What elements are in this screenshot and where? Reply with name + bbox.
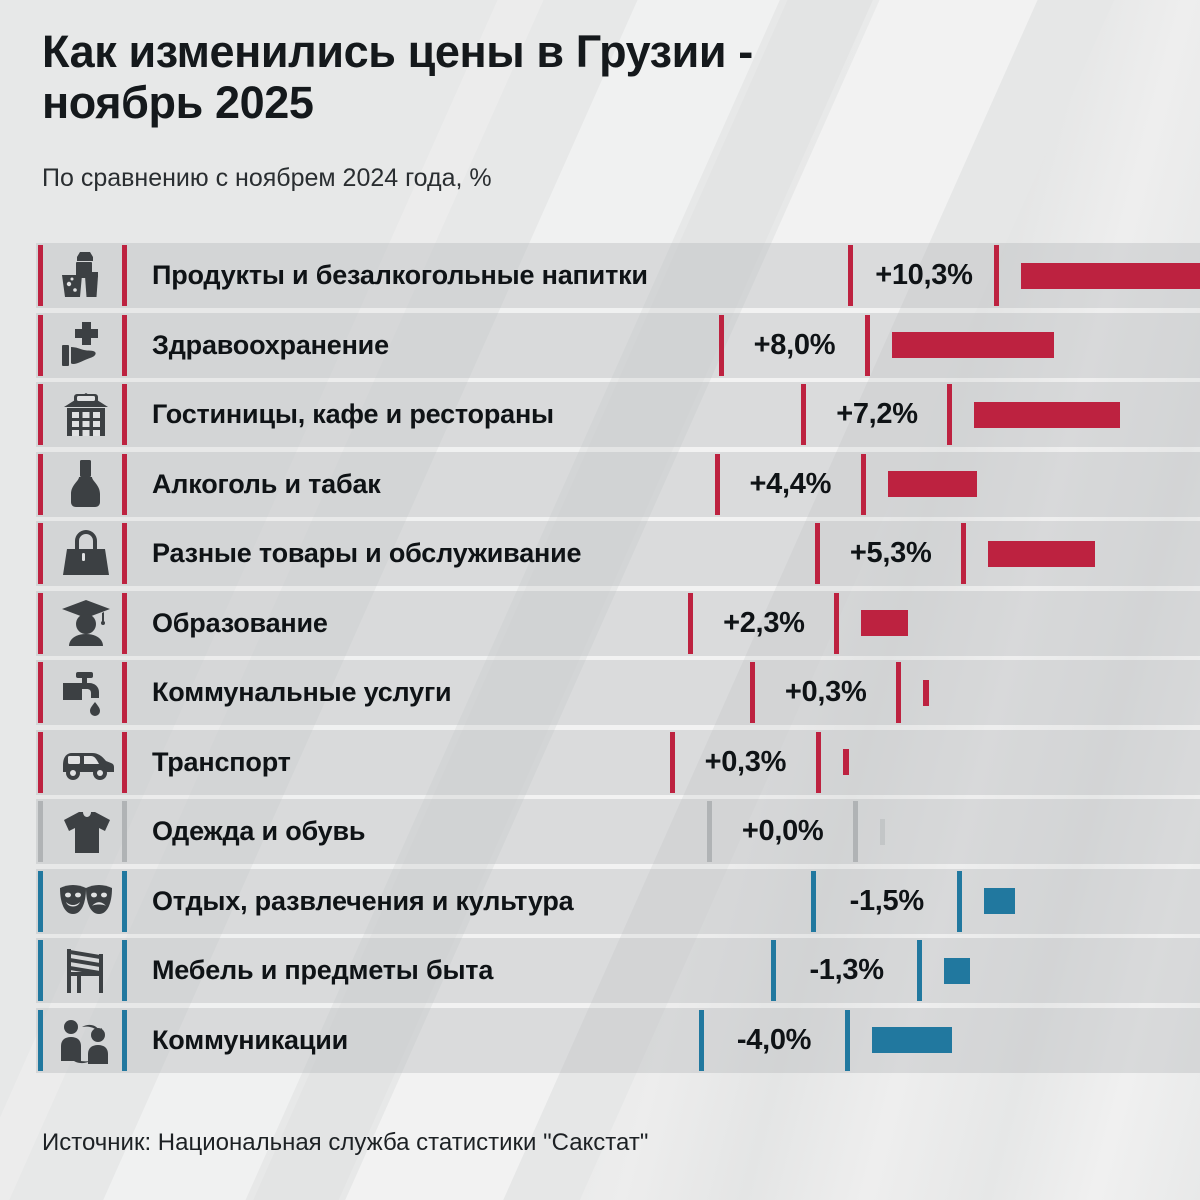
value-label: +4,4% — [720, 468, 861, 501]
value-bar — [892, 332, 1054, 358]
chart-rows: Продукты и безалкогольные напитки+10,3%З… — [0, 243, 1200, 1077]
row-left-accent-bar — [38, 871, 43, 932]
value-label: +0,3% — [755, 676, 896, 709]
value-label: -1,3% — [776, 954, 917, 987]
row-left-accent-bar — [38, 662, 43, 723]
category-label: Продукты и безалкогольные напитки — [127, 260, 848, 291]
value-label: +0,3% — [675, 746, 816, 779]
value-bar — [974, 402, 1119, 428]
healthcare-icon — [50, 320, 122, 370]
row-left-accent-bar — [38, 245, 43, 306]
row-left-accent-bar — [38, 732, 43, 793]
row-left-accent-bar — [38, 1010, 43, 1071]
bar-track — [850, 1008, 1200, 1073]
furniture-icon — [50, 946, 122, 996]
table-row[interactable]: Продукты и безалкогольные напитки+10,3% — [0, 243, 1200, 308]
header: Как изменились цены в Грузии - ноябрь 20… — [42, 26, 982, 193]
bar-track — [901, 660, 1200, 725]
misc-goods-icon — [50, 529, 122, 579]
value-label: +5,3% — [820, 537, 961, 570]
utilities-icon — [50, 668, 122, 718]
recreation-icon — [50, 879, 122, 923]
groceries-icon — [50, 251, 122, 301]
row-left-accent-bar — [38, 315, 43, 376]
row-left-accent-bar — [38, 801, 43, 862]
bar-track — [922, 938, 1200, 1003]
row-left-accent-bar — [38, 454, 43, 515]
category-label: Коммунальные услуги — [127, 677, 750, 708]
bar-track — [962, 869, 1200, 934]
table-row[interactable]: Разные товары и обслуживание+5,3% — [0, 521, 1200, 586]
row-left-accent-bar — [38, 523, 43, 584]
table-row[interactable]: Алкоголь и табак+4,4% — [0, 452, 1200, 517]
category-label: Образование — [127, 608, 688, 639]
value-bar — [988, 541, 1095, 567]
value-bar — [843, 749, 849, 775]
value-bar — [984, 888, 1014, 914]
value-label: -1,5% — [816, 885, 957, 918]
value-label: +8,0% — [724, 329, 865, 362]
category-label: Здравоохранение — [127, 330, 719, 361]
bar-track — [999, 243, 1200, 308]
transport-icon — [50, 741, 122, 783]
table-row[interactable]: Коммунальные услуги+0,3% — [0, 660, 1200, 725]
table-row[interactable]: Мебель и предметы быта-1,3% — [0, 938, 1200, 1003]
table-row[interactable]: Коммуникации-4,0% — [0, 1008, 1200, 1073]
source-note: Источник: Национальная служба статистики… — [42, 1129, 648, 1157]
table-row[interactable]: Одежда и обувь+0,0% — [0, 799, 1200, 864]
category-label: Отдых, развлечения и культура — [127, 886, 811, 917]
hotel-icon — [50, 390, 122, 440]
bar-track — [866, 452, 1200, 517]
value-bar — [923, 680, 929, 706]
category-label: Гостиницы, кафе и рестораны — [127, 399, 801, 430]
bar-track — [952, 382, 1200, 447]
table-row[interactable]: Гостиницы, кафе и рестораны+7,2% — [0, 382, 1200, 447]
value-bar — [861, 610, 907, 636]
bar-track — [839, 591, 1200, 656]
value-bar — [1021, 263, 1200, 289]
bar-track — [858, 799, 1200, 864]
value-label: +2,3% — [693, 607, 834, 640]
bar-track — [821, 730, 1200, 795]
value-label: -4,0% — [704, 1024, 845, 1057]
page-subtitle: По сравнению с ноябрем 2024 года, % — [42, 164, 982, 193]
table-row[interactable]: Транспорт+0,3% — [0, 730, 1200, 795]
table-row[interactable]: Здравоохранение+8,0% — [0, 313, 1200, 378]
category-label: Одежда и обувь — [127, 816, 707, 847]
table-row[interactable]: Отдых, развлечения и культура-1,5% — [0, 869, 1200, 934]
infographic-canvas: Как изменились цены в Грузии - ноябрь 20… — [0, 0, 1200, 1200]
communications-icon — [50, 1016, 122, 1064]
value-bar — [872, 1027, 953, 1053]
value-label: +0,0% — [712, 815, 853, 848]
category-label: Разные товары и обслуживание — [127, 538, 815, 569]
category-label: Транспорт — [127, 747, 670, 778]
row-left-accent-bar — [38, 940, 43, 1001]
row-left-accent-bar — [38, 384, 43, 445]
bar-track — [966, 521, 1200, 586]
page-title: Как изменились цены в Грузии - ноябрь 20… — [42, 26, 982, 129]
value-label: +10,3% — [853, 259, 994, 292]
value-bar — [888, 471, 977, 497]
education-icon — [50, 598, 122, 648]
alcohol-icon — [50, 459, 122, 509]
category-label: Алкоголь и табак — [127, 469, 715, 500]
table-row[interactable]: Образование+2,3% — [0, 591, 1200, 656]
bar-track — [870, 313, 1200, 378]
value-label: +7,2% — [806, 398, 947, 431]
category-label: Коммуникации — [127, 1025, 699, 1056]
value-bar — [944, 958, 970, 984]
value-bar — [880, 819, 885, 845]
category-label: Мебель и предметы быта — [127, 955, 771, 986]
row-left-accent-bar — [38, 593, 43, 654]
clothing-icon — [50, 809, 122, 855]
